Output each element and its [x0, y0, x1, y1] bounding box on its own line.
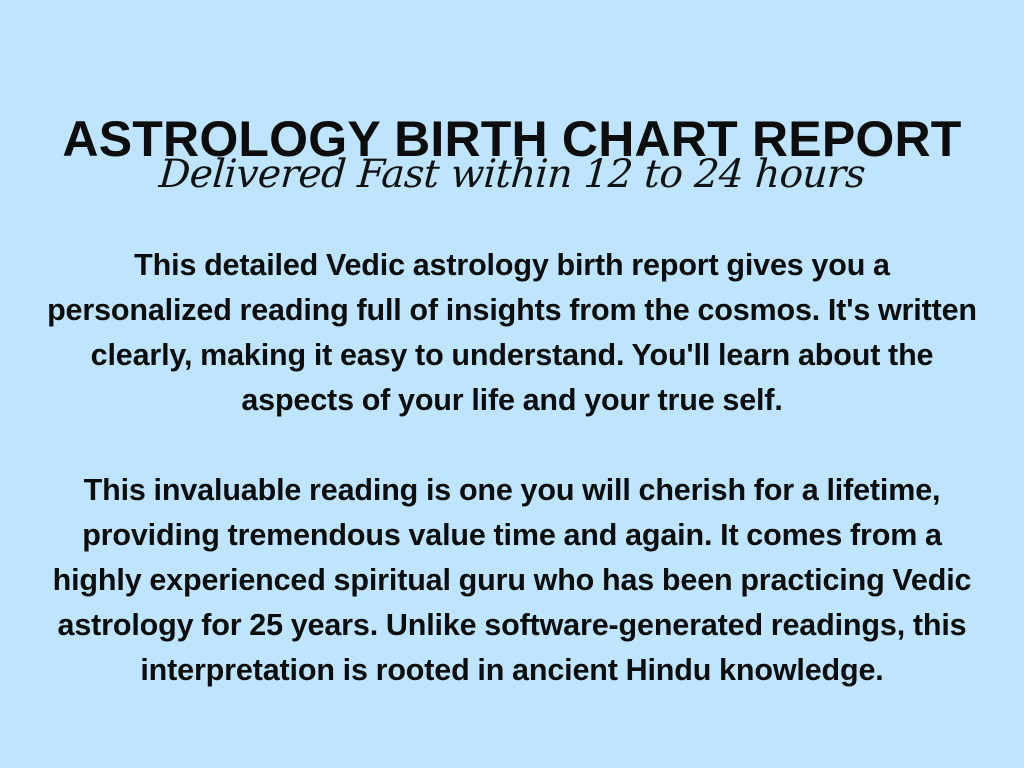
astrology-report-poster: ASTROLOGY BIRTH CHART REPORT Delivered F… — [0, 0, 1024, 768]
description-body: This detailed Vedic astrology birth repo… — [46, 243, 978, 693]
description-paragraph-1: This detailed Vedic astrology birth repo… — [46, 243, 978, 423]
delivery-time-subtitle: Delivered Fast within 12 to 24 hours — [0, 150, 1024, 200]
description-paragraph-2: This invaluable reading is one you will … — [46, 468, 978, 693]
